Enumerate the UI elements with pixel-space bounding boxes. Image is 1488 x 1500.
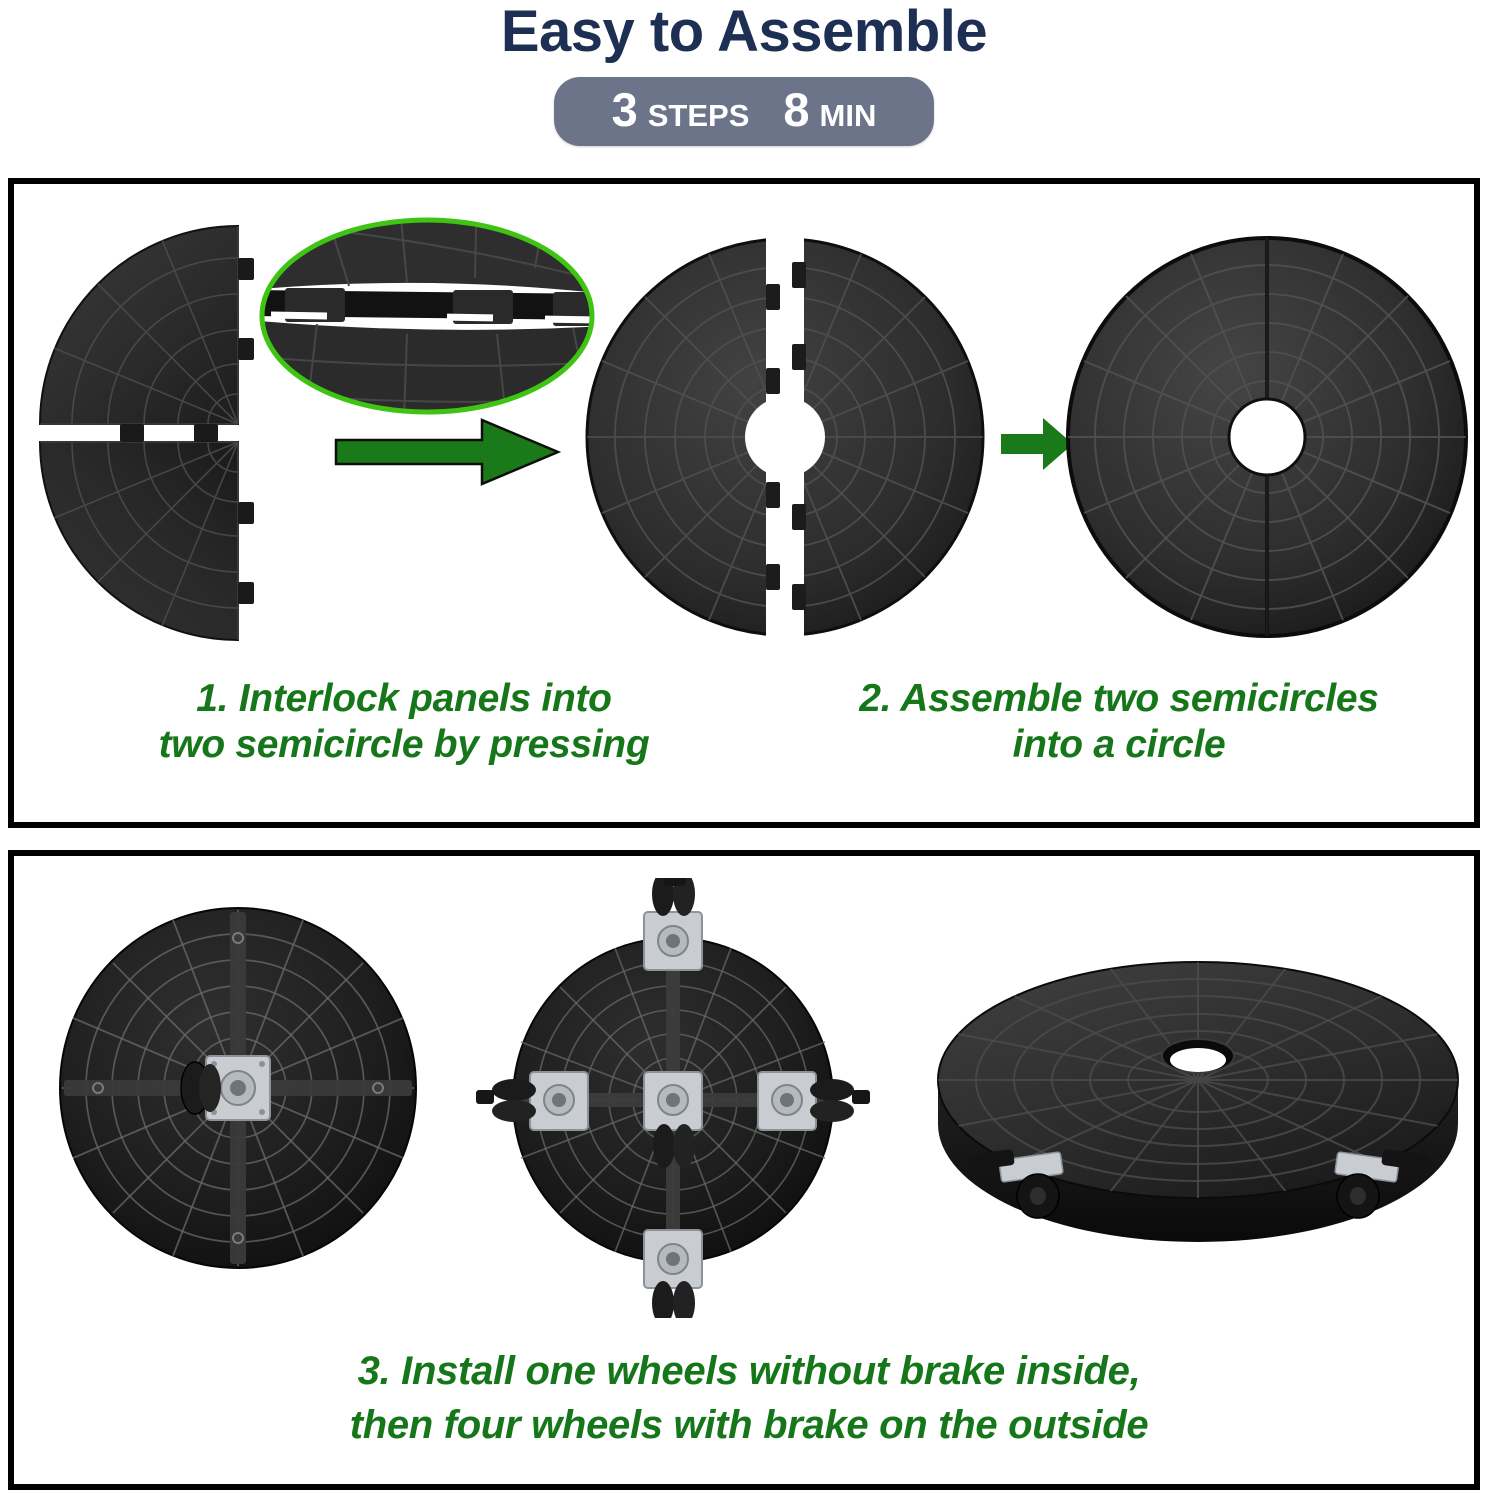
minutes-label: MIN — [820, 100, 877, 131]
page-title: Easy to Assemble — [0, 2, 1488, 63]
assembled-full-circle-figure — [1062, 232, 1472, 642]
finished-plant-caddy-figure — [930, 938, 1470, 1278]
step-2-caption: 2. Assemble two semicircles into a circl… — [774, 676, 1464, 768]
caster-east-brake — [758, 1072, 870, 1130]
assembly-panel-step-3: 3. Install one wheels without brake insi… — [8, 850, 1480, 1490]
assembly-panel-steps-1-2: 1. Interlock panels into two semicircle … — [8, 178, 1480, 828]
quarter-panel-lower — [40, 429, 254, 640]
step-3-caption: 3. Install one wheels without brake insi… — [44, 1344, 1454, 1452]
caster-west-brake — [476, 1072, 588, 1130]
center-hole — [1229, 399, 1305, 475]
caster-south-brake — [644, 1230, 702, 1318]
steps-time-badge: 3 STEPS 8 MIN — [554, 77, 935, 146]
steps-label: STEPS — [648, 100, 750, 131]
header: Easy to Assemble 3 STEPS 8 MIN — [0, 0, 1488, 146]
assembled-semicircles-figure — [580, 232, 990, 642]
caster-center — [181, 1056, 270, 1120]
quarter-panel-upper — [40, 226, 254, 437]
steps-count: 3 — [612, 86, 638, 133]
arrow-step1-to-step2-icon — [332, 416, 562, 488]
interlock-detail-callout — [257, 216, 597, 416]
underside-one-caster-figure — [58, 898, 418, 1278]
caster-north-brake — [644, 878, 702, 970]
minutes-count: 8 — [783, 86, 809, 133]
step-1-caption: 1. Interlock panels into two semicircle … — [54, 676, 754, 768]
underside-five-casters-figure — [448, 878, 898, 1318]
